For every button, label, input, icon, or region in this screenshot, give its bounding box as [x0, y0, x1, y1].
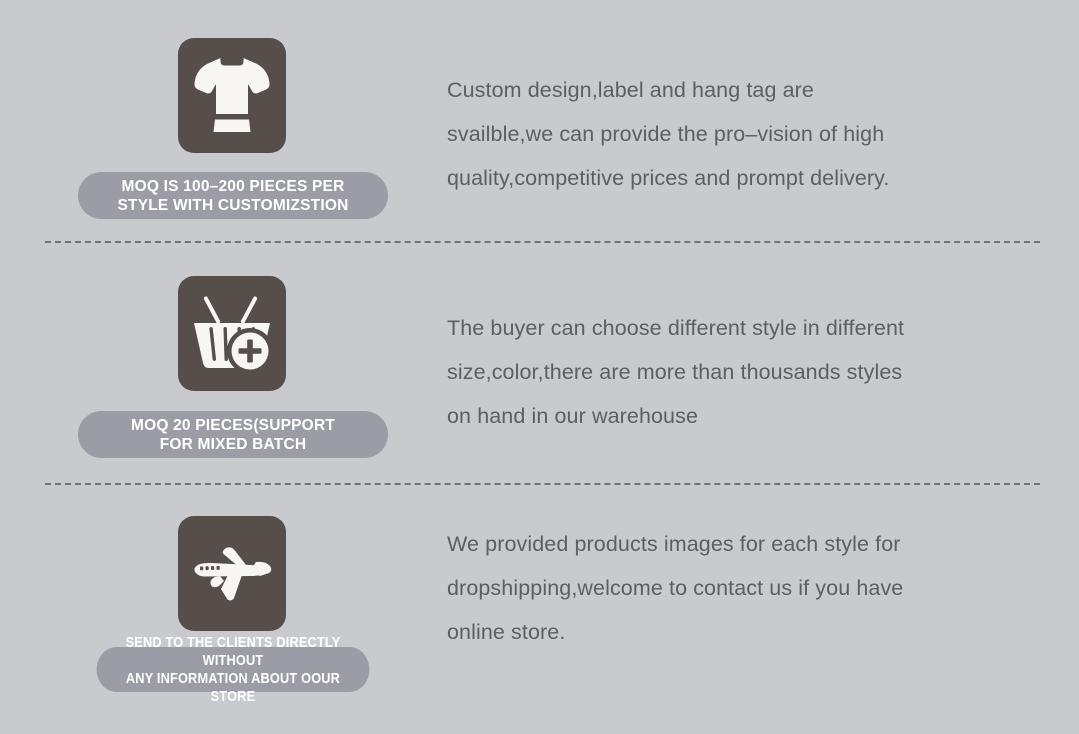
feature-row: MOQ 20 PIECES(SUPPORT FOR MIXED BATCH Th… — [0, 242, 1079, 478]
feature-icon-column: MOQ IS 100–200 PIECES PER STYLE WITH CUS… — [0, 0, 430, 236]
moq-badge: MOQ IS 100–200 PIECES PER STYLE WITH CUS… — [78, 172, 388, 219]
feature-icon-column: SEND TO THE CLIENTS DIRECTLY WITHOUT ANY… — [0, 484, 430, 724]
moq-badge-label: MOQ 20 PIECES(SUPPORT FOR MIXED BATCH — [125, 416, 341, 454]
feature-description: We provided products images for each sty… — [447, 522, 1027, 654]
shipping-badge-label: SEND TO THE CLIENTS DIRECTLY WITHOUT ANY… — [97, 634, 370, 706]
feature-description: Custom design,label and hang tag are sva… — [447, 68, 1027, 200]
basket-add-icon — [191, 293, 273, 375]
tshirt-icon — [193, 56, 271, 136]
feature-list: MOQ IS 100–200 PIECES PER STYLE WITH CUS… — [0, 0, 1079, 734]
basket-add-icon-tile — [178, 276, 286, 391]
tshirt-icon-tile — [178, 38, 286, 153]
airplane-icon-tile — [178, 516, 286, 631]
moq-badge: MOQ 20 PIECES(SUPPORT FOR MIXED BATCH — [78, 411, 388, 458]
feature-row: SEND TO THE CLIENTS DIRECTLY WITHOUT ANY… — [0, 484, 1079, 724]
feature-description: The buyer can choose different style in … — [447, 306, 1027, 438]
airplane-icon — [190, 541, 274, 607]
feature-icon-column: MOQ 20 PIECES(SUPPORT FOR MIXED BATCH — [0, 242, 430, 478]
feature-row: MOQ IS 100–200 PIECES PER STYLE WITH CUS… — [0, 0, 1079, 236]
moq-badge-label: MOQ IS 100–200 PIECES PER STYLE WITH CUS… — [112, 177, 355, 215]
shipping-badge: SEND TO THE CLIENTS DIRECTLY WITHOUT ANY… — [97, 647, 370, 692]
